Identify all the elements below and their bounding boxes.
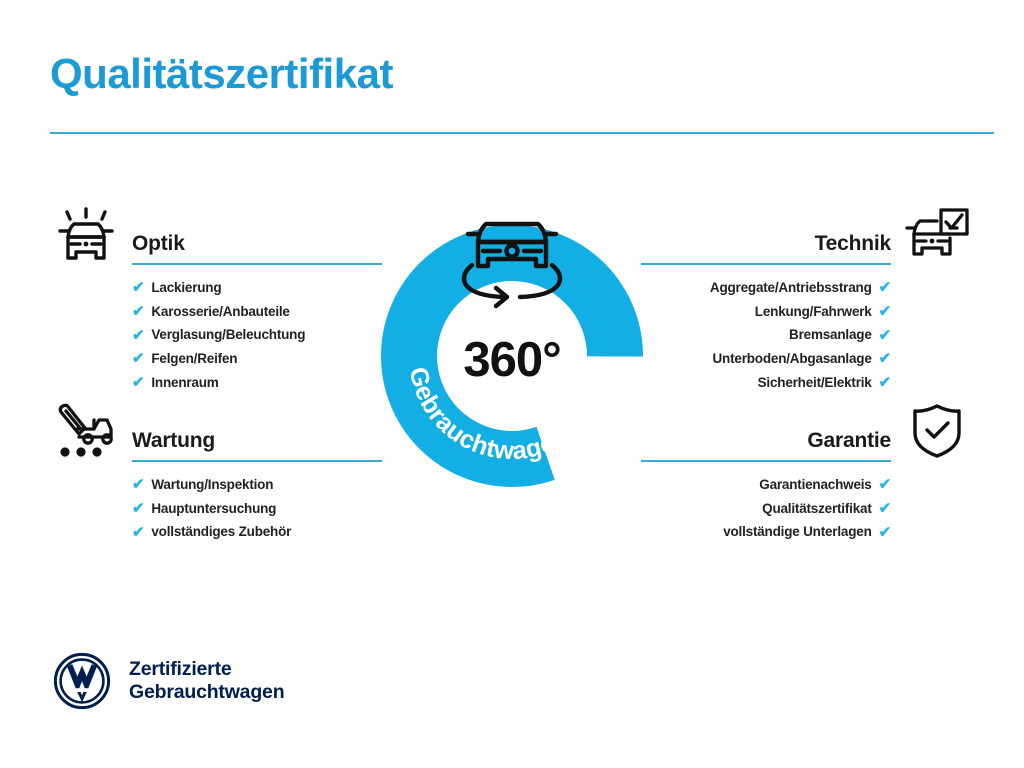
car-front-shine-icon bbox=[48, 203, 124, 265]
list-item-label: Garantienachweis bbox=[759, 473, 871, 497]
checklist-optik: ✔Lackierung ✔Karosserie/Anbauteile ✔Verg… bbox=[132, 276, 305, 395]
list-item: ✔Hauptuntersuchung bbox=[132, 497, 291, 521]
list-item-label: Qualitätszertifikat bbox=[762, 497, 871, 521]
checklist-technik: Aggregate/Antriebsstrang✔ Lenkung/Fahrwe… bbox=[710, 276, 891, 395]
check-icon: ✔ bbox=[879, 375, 891, 390]
section-title: Wartung bbox=[132, 429, 215, 453]
section-wartung: Wartung ✔Wartung/Inspektion ✔Hauptunters… bbox=[50, 400, 380, 462]
list-item: Lenkung/Fahrwerk✔ bbox=[710, 300, 891, 324]
list-item-label: Hauptuntersuchung bbox=[151, 497, 276, 521]
checklist-wartung: ✔Wartung/Inspektion ✔Hauptuntersuchung ✔… bbox=[132, 473, 291, 544]
badge-degrees-label: 360° bbox=[378, 332, 646, 388]
list-item: ✔vollständiges Zubehör bbox=[132, 520, 291, 544]
section-garantie: Garantie Garantienachweis✔ Qualitätszert… bbox=[643, 400, 973, 462]
title-divider bbox=[50, 132, 994, 134]
list-item-label: Bremsanlage bbox=[789, 323, 872, 347]
volkswagen-logo bbox=[53, 652, 111, 710]
list-item: ✔Karosserie/Anbauteile bbox=[132, 300, 305, 324]
section-optik: Optik ✔Lackierung ✔Karosserie/Anbauteile… bbox=[50, 203, 380, 265]
check-icon: ✔ bbox=[132, 351, 144, 366]
list-item-label: Felgen/Reifen bbox=[151, 347, 237, 371]
list-item: Aggregate/Antriebsstrang✔ bbox=[710, 276, 891, 300]
check-icon: ✔ bbox=[132, 280, 144, 295]
section-header: Wartung bbox=[50, 400, 380, 462]
section-technik: Technik Aggregate/Antriebsstrang✔ Lenkun… bbox=[643, 203, 973, 265]
volkswagen-certified-lockup: Zertifizierte Gebrauchtwagen bbox=[53, 652, 284, 710]
section-underline bbox=[641, 460, 891, 462]
check-icon: ✔ bbox=[132, 525, 144, 540]
check-icon: ✔ bbox=[879, 351, 891, 366]
lockup-line-1: Zertifizierte bbox=[129, 658, 284, 681]
list-item: ✔Innenraum bbox=[132, 371, 305, 395]
section-underline bbox=[132, 460, 382, 462]
list-item-label: Karosserie/Anbauteile bbox=[151, 300, 289, 324]
check-icon: ✔ bbox=[132, 375, 144, 390]
list-item-label: vollständige Unterlagen bbox=[723, 520, 871, 544]
list-item: Qualitätszertifikat✔ bbox=[723, 497, 891, 521]
section-title: Optik bbox=[132, 232, 185, 256]
page-title: Qualitätszertifikat bbox=[50, 53, 393, 95]
list-item: Garantienachweis✔ bbox=[723, 473, 891, 497]
section-underline bbox=[132, 263, 382, 265]
wrench-car-service-icon bbox=[48, 400, 124, 462]
check-icon: ✔ bbox=[132, 501, 144, 516]
check-icon: ✔ bbox=[879, 477, 891, 492]
list-item-label: Innenraum bbox=[151, 371, 218, 395]
list-item-label: Lackierung bbox=[151, 276, 221, 300]
gebrauchtwagen-check-badge: Gebrauchtwagen-Check 360° bbox=[378, 196, 646, 494]
list-item: vollständige Unterlagen✔ bbox=[723, 520, 891, 544]
check-icon: ✔ bbox=[879, 501, 891, 516]
shield-check-icon bbox=[899, 400, 975, 462]
section-title: Garantie bbox=[807, 429, 891, 453]
list-item: Sicherheit/Elektrik✔ bbox=[710, 371, 891, 395]
list-item: ✔Verglasung/Beleuchtung bbox=[132, 323, 305, 347]
check-icon: ✔ bbox=[879, 280, 891, 295]
list-item-label: Verglasung/Beleuchtung bbox=[151, 323, 305, 347]
section-title: Technik bbox=[815, 232, 891, 256]
list-item-label: Lenkung/Fahrwerk bbox=[755, 300, 872, 324]
car-front-checkbox-icon bbox=[899, 203, 975, 265]
section-underline bbox=[641, 263, 891, 265]
list-item-label: Wartung/Inspektion bbox=[151, 473, 273, 497]
list-item: Bremsanlage✔ bbox=[710, 323, 891, 347]
check-icon: ✔ bbox=[132, 304, 144, 319]
list-item: ✔Lackierung bbox=[132, 276, 305, 300]
section-header: Optik bbox=[50, 203, 380, 265]
list-item-label: Sicherheit/Elektrik bbox=[758, 371, 872, 395]
list-item: Unterboden/Abgasanlage✔ bbox=[710, 347, 891, 371]
lockup-line-2: Gebrauchtwagen bbox=[129, 681, 284, 704]
check-icon: ✔ bbox=[132, 477, 144, 492]
section-header: Technik bbox=[643, 203, 973, 265]
section-header: Garantie bbox=[643, 400, 973, 462]
list-item-label: Aggregate/Antriebsstrang bbox=[710, 276, 872, 300]
lockup-text: Zertifizierte Gebrauchtwagen bbox=[129, 658, 284, 704]
list-item: ✔Felgen/Reifen bbox=[132, 347, 305, 371]
check-icon: ✔ bbox=[132, 328, 144, 343]
check-icon: ✔ bbox=[879, 328, 891, 343]
list-item: ✔Wartung/Inspektion bbox=[132, 473, 291, 497]
checklist-garantie: Garantienachweis✔ Qualitätszertifikat✔ v… bbox=[723, 473, 891, 544]
check-icon: ✔ bbox=[879, 304, 891, 319]
list-item-label: Unterboden/Abgasanlage bbox=[713, 347, 872, 371]
list-item-label: vollständiges Zubehör bbox=[151, 520, 291, 544]
check-icon: ✔ bbox=[879, 525, 891, 540]
